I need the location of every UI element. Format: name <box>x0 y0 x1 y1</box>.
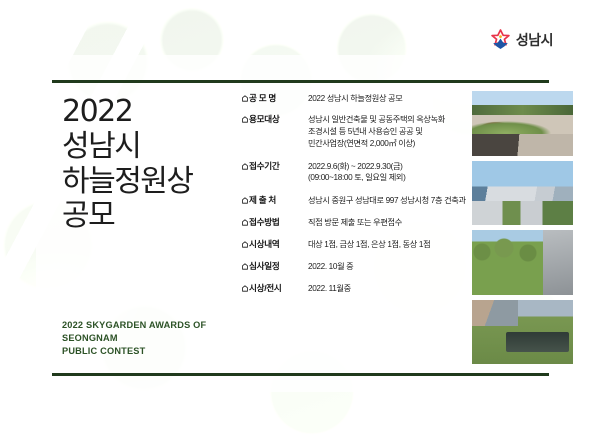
title-line-4: 공모 <box>62 199 228 234</box>
detail-label-text: 공 모 명 <box>249 93 276 105</box>
detail-value: 2022. 10월 중 <box>308 261 353 273</box>
rule-top <box>52 80 549 83</box>
detail-value-line: 성남시 일반건축물 및 공동주택의 옥상녹화 <box>308 114 445 126</box>
detail-row-award-exhibition: 시상/전시 2022. 11월중 <box>242 283 466 295</box>
detail-row-eligible-target: 용모대상 성남시 일반건축물 및 공동주택의 옥상녹화 조경시설 등 5년내 사… <box>242 114 466 150</box>
detail-label: 접수방법 <box>242 217 308 229</box>
detail-row-application-period: 접수기간 2022.9.6(화) ~ 2022.9.30(금) (09:00~1… <box>242 161 466 185</box>
rule-bottom <box>52 373 549 376</box>
detail-label: 접수기간 <box>242 161 308 173</box>
photo-rooftop-lawn-trees <box>472 230 573 295</box>
subtitle-line-2: SEONGNAM <box>62 332 206 345</box>
detail-label: 시상내역 <box>242 239 308 251</box>
detail-label-text: 용모대상 <box>249 114 279 126</box>
logo-text: 성남시 <box>516 33 553 47</box>
seongnam-city-logo: 성남시 <box>490 29 553 50</box>
detail-value: 2022. 11월중 <box>308 283 351 295</box>
house-marker-icon <box>242 284 248 291</box>
detail-row-review-schedule: 심사일정 2022. 10월 중 <box>242 261 466 273</box>
detail-row-submission-method: 접수방법 직접 방문 제출 또는 우편접수 <box>242 217 466 229</box>
detail-value-line: 2022. 11월중 <box>308 283 351 295</box>
detail-value: 직접 방문 제출 또는 우편접수 <box>308 217 402 229</box>
detail-value: 성남시 일반건축물 및 공동주택의 옥상녹화 조경시설 등 5년내 사용승인 공… <box>308 114 445 150</box>
photo-rooftop-garden-curved-planter <box>472 91 573 156</box>
detail-label-text: 심사일정 <box>249 261 279 273</box>
detail-value: 대상 1점, 금상 1점, 은상 1점, 동상 1점 <box>308 239 430 251</box>
house-marker-icon <box>242 240 248 247</box>
photo-modern-building-plaza <box>472 161 573 226</box>
detail-label: 용모대상 <box>242 114 308 126</box>
house-marker-icon <box>242 262 248 269</box>
english-subtitle: 2022 SKYGARDEN AWARDS OF SEONGNAM PUBLIC… <box>62 319 206 358</box>
photo-column <box>466 91 573 364</box>
detail-label-text: 접수기간 <box>249 161 279 173</box>
detail-value: 2022 성남시 하늘정원상 공모 <box>308 93 402 105</box>
detail-value-line: 직접 방문 제출 또는 우편접수 <box>308 217 402 229</box>
detail-value-line: 민간사업장(연면적 2,000㎡ 이상) <box>308 138 445 150</box>
detail-value-line: 성남시 중원구 성남대로 997 성남시청 7층 건축과 <box>308 195 466 207</box>
detail-label: 제 출 처 <box>242 195 308 207</box>
detail-value-line: (09:00~18:00 토, 일요일 제외) <box>308 172 405 184</box>
house-marker-icon <box>242 115 248 122</box>
detail-label-text: 시상/전시 <box>249 283 282 295</box>
house-marker-icon <box>242 196 248 203</box>
detail-label: 시상/전시 <box>242 283 308 295</box>
detail-value-line: 조경시설 등 5년내 사용승인 공공 및 <box>308 126 445 138</box>
details-list: 공 모 명 2022 성남시 하늘정원상 공모 용모대상 성남시 일반건축물 및… <box>228 91 466 364</box>
detail-row-submission-place: 제 출 처 성남시 중원구 성남대로 997 성남시청 7층 건축과 <box>242 195 466 207</box>
photo-rooftop-reflecting-pool <box>472 300 573 365</box>
detail-label-text: 시상내역 <box>249 239 279 251</box>
house-marker-icon <box>242 218 248 225</box>
title-line-1: 2022 <box>62 95 228 130</box>
detail-row-contest-name: 공 모 명 2022 성남시 하늘정원상 공모 <box>242 93 466 105</box>
subtitle-line-3: PUBLIC CONTEST <box>62 345 206 358</box>
poster-card: 성남시 2022 성남시 하늘정원상 공모 2022 SKYGARDEN AWA… <box>36 55 565 392</box>
detail-label-text: 제 출 처 <box>249 195 276 207</box>
detail-value: 성남시 중원구 성남대로 997 성남시청 7층 건축과 <box>308 195 466 207</box>
seongnam-flower-icon <box>490 29 511 50</box>
detail-value-line: 2022. 10월 중 <box>308 261 353 273</box>
detail-value: 2022.9.6(화) ~ 2022.9.30(금) (09:00~18:00 … <box>308 161 405 185</box>
title-line-2: 성남시 <box>62 130 228 165</box>
page-title: 2022 성남시 하늘정원상 공모 <box>62 95 228 234</box>
detail-row-prize-details: 시상내역 대상 1점, 금상 1점, 은상 1점, 동상 1점 <box>242 239 466 251</box>
detail-label: 공 모 명 <box>242 93 308 105</box>
title-line-3: 하늘정원상 <box>62 165 228 200</box>
house-marker-icon <box>242 162 248 169</box>
subtitle-line-1: 2022 SKYGARDEN AWARDS OF <box>62 319 206 332</box>
detail-value-line: 2022 성남시 하늘정원상 공모 <box>308 93 402 105</box>
title-block: 2022 성남시 하늘정원상 공모 2022 SKYGARDEN AWARDS … <box>52 91 228 364</box>
detail-label: 심사일정 <box>242 261 308 273</box>
house-marker-icon <box>242 94 248 101</box>
detail-value-line: 대상 1점, 금상 1점, 은상 1점, 동상 1점 <box>308 239 430 251</box>
detail-value-line: 2022.9.6(화) ~ 2022.9.30(금) <box>308 161 405 173</box>
detail-label-text: 접수방법 <box>249 217 279 229</box>
